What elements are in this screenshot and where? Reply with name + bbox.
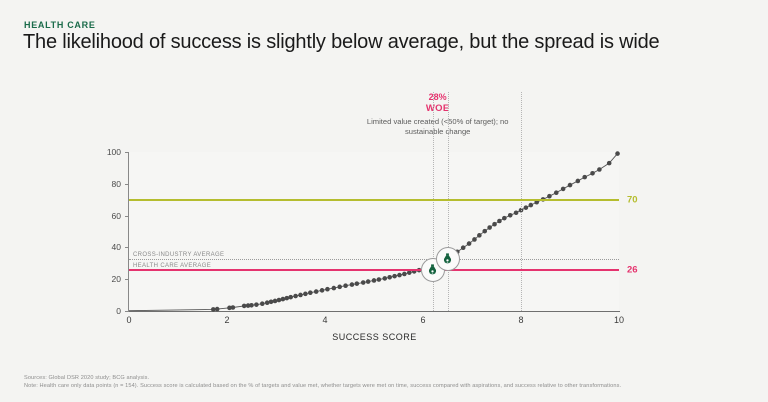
footnote-sources: Sources: Global DSR 2020 study; BCG anal… xyxy=(24,374,149,382)
reference-line-health-care-average xyxy=(129,269,619,271)
x-tick-label: 4 xyxy=(310,315,340,325)
x-tick-label: 0 xyxy=(114,315,144,325)
y-tick-label: 40 xyxy=(97,242,121,252)
x-tick-label: 10 xyxy=(604,315,634,325)
y-tick-mark xyxy=(125,152,129,153)
y-tick-mark xyxy=(125,311,129,312)
reference-line-cross-industry-average xyxy=(129,259,619,260)
y-tick-mark xyxy=(125,184,129,185)
y-tick-label: 20 xyxy=(97,274,121,284)
y-tick-label: 100 xyxy=(97,147,121,157)
chart-area: % OF CASES BELOW SUCCESS SCORE SUCCESS S… xyxy=(0,0,768,402)
x-tick-label: 8 xyxy=(506,315,536,325)
reference-label-health-care-average: 26 xyxy=(627,264,638,275)
medical-flask-icon xyxy=(442,253,453,265)
reference-line-win-threshold xyxy=(129,199,619,201)
x-tick-label: 6 xyxy=(408,315,438,325)
y-tick-mark xyxy=(125,216,129,217)
reference-caption-cross-industry-average: CROSS-INDUSTRY AVERAGE xyxy=(133,252,224,258)
section-divider xyxy=(521,92,522,311)
footnote-note: Note: Health care only data points (n = … xyxy=(24,382,621,390)
plot-panel xyxy=(129,152,619,311)
section-divider xyxy=(448,92,449,311)
y-tick-mark xyxy=(125,247,129,248)
reference-label-win-threshold: 70 xyxy=(627,194,638,205)
y-axis-line xyxy=(128,152,129,311)
x-tick-label: 2 xyxy=(212,315,242,325)
cross-industry-average-marker[interactable] xyxy=(436,247,460,271)
y-tick-mark xyxy=(125,279,129,280)
x-axis-line xyxy=(129,311,620,312)
x-axis-label: SUCCESS SCORE xyxy=(129,332,620,342)
y-tick-label: 60 xyxy=(97,211,121,221)
plot-background xyxy=(129,152,619,311)
y-tick-label: 80 xyxy=(97,179,121,189)
medical-flask-icon xyxy=(427,264,438,276)
